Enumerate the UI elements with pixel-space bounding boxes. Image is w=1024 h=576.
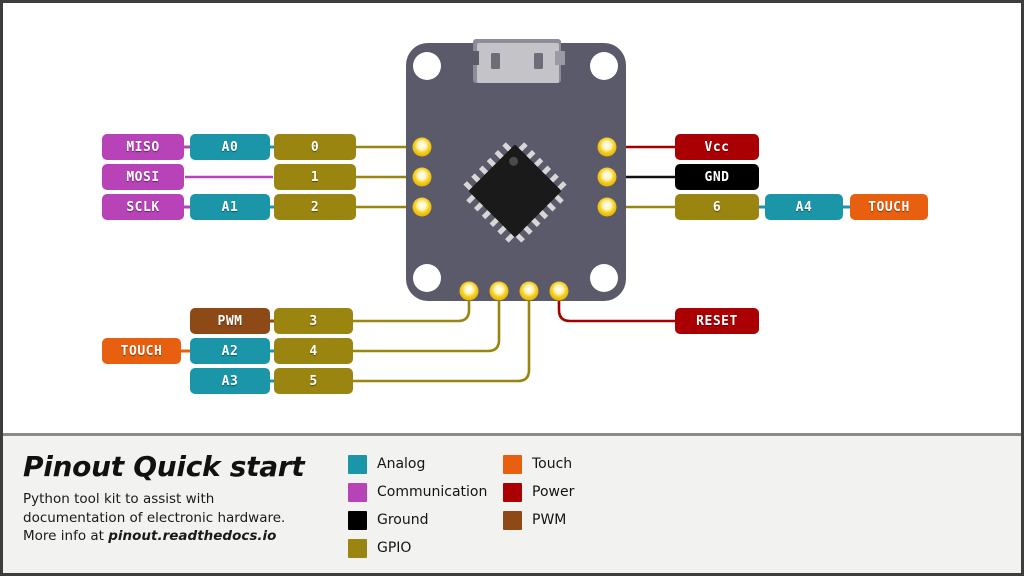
legend-label-power: Power — [532, 484, 574, 500]
legend-label-pwm: PWM — [532, 512, 566, 528]
label-gpio-2[interactable]: 2 — [274, 194, 356, 220]
label-touch-left[interactable]: TOUCH — [102, 338, 181, 364]
legend-item-power: Power — [503, 478, 574, 506]
label-mosi[interactable]: MOSI — [102, 164, 184, 190]
label-gpio-3[interactable]: 3 — [274, 308, 353, 334]
legend-label-touch: Touch — [532, 456, 572, 472]
desc-line-1: Python tool kit to assist with — [23, 491, 214, 507]
usb-connector-icon — [469, 39, 565, 83]
label-gpio-4[interactable]: 4 — [274, 338, 353, 364]
legend-column-right: Touch Power PWM — [503, 450, 574, 534]
swatch-ground-icon — [348, 511, 367, 530]
legend-item-pwm: PWM — [503, 506, 574, 534]
legend-label-gpio: GPIO — [377, 540, 411, 556]
swatch-gpio-icon — [348, 539, 367, 558]
label-gpio-5[interactable]: 5 — [274, 368, 353, 394]
mounting-hole — [413, 264, 441, 292]
footer-panel: Pinout Quick start Python tool kit to as… — [3, 433, 1021, 573]
legend-column-left: Analog Communication Ground GPIO — [348, 450, 487, 562]
swatch-analog-icon — [348, 455, 367, 474]
label-reset[interactable]: RESET — [675, 308, 759, 334]
legend-label-ground: Ground — [377, 512, 429, 528]
legend-label-communication: Communication — [377, 484, 487, 500]
label-a0[interactable]: A0 — [190, 134, 270, 160]
swatch-communication-icon — [348, 483, 367, 502]
label-gnd[interactable]: GND — [675, 164, 759, 190]
page-title: Pinout Quick start — [23, 450, 304, 483]
label-a4[interactable]: A4 — [765, 194, 843, 220]
swatch-pwm-icon — [503, 511, 522, 530]
label-touch-right[interactable]: TOUCH — [850, 194, 928, 220]
board-graphic — [406, 39, 626, 301]
desc-line-2: documentation of electronic hardware. — [23, 510, 285, 526]
legend-item-gpio: GPIO — [348, 534, 487, 562]
label-vcc[interactable]: Vcc — [675, 134, 759, 160]
label-sclk[interactable]: SCLK — [102, 194, 184, 220]
label-a1[interactable]: A1 — [190, 194, 270, 220]
mounting-hole — [590, 264, 618, 292]
legend-item-touch: Touch — [503, 450, 574, 478]
label-a2[interactable]: A2 — [190, 338, 270, 364]
label-pwm[interactable]: PWM — [190, 308, 270, 334]
docs-link[interactable]: pinout.readthedocs.io — [108, 528, 276, 544]
mounting-hole — [413, 52, 441, 80]
mounting-hole — [590, 52, 618, 80]
label-miso[interactable]: MISO — [102, 134, 184, 160]
legend-item-ground: Ground — [348, 506, 487, 534]
label-gpio-6[interactable]: 6 — [675, 194, 759, 220]
description-text: Python tool kit to assist with documenta… — [23, 490, 328, 546]
pinout-diagram-page: MISO A0 0 MOSI 1 SCLK A1 2 Vcc GND 6 A4 … — [0, 0, 1024, 576]
diagram-stage: MISO A0 0 MOSI 1 SCLK A1 2 Vcc GND 6 A4 … — [3, 3, 1021, 433]
desc-line-3-prefix: More info at — [23, 528, 108, 544]
label-gpio-1[interactable]: 1 — [274, 164, 356, 190]
label-gpio-0[interactable]: 0 — [274, 134, 356, 160]
legend-label-analog: Analog — [377, 456, 425, 472]
legend-item-communication: Communication — [348, 478, 487, 506]
swatch-touch-icon — [503, 455, 522, 474]
swatch-power-icon — [503, 483, 522, 502]
label-a3[interactable]: A3 — [190, 368, 270, 394]
legend-item-analog: Analog — [348, 450, 487, 478]
